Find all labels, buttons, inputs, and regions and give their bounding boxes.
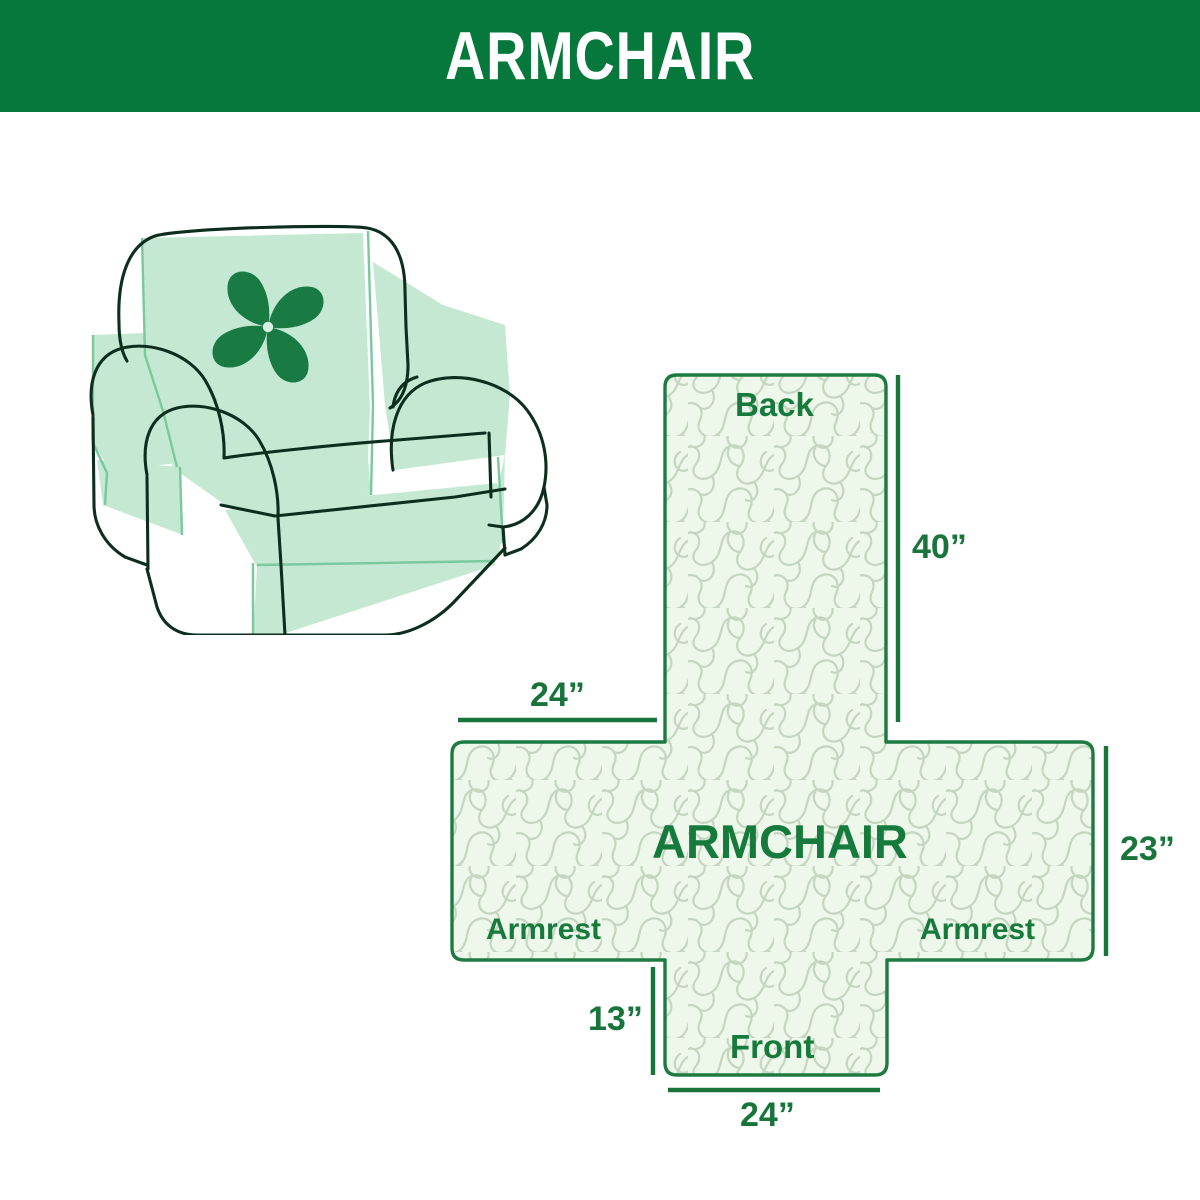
cover-shape <box>452 375 1093 1075</box>
cover-layout-diagram: 40” 24” 23” 13” 24” Back ARMCHAIR Armres… <box>430 350 1190 1120</box>
panel-label-front: Front <box>730 1030 814 1063</box>
panel-label-back: Back <box>735 388 814 421</box>
product-dimension-diagram: ARMCHAIR <box>0 0 1200 1200</box>
dim-label-back-width: 24” <box>530 678 585 712</box>
dim-label-seat-depth: 23” <box>1120 832 1175 866</box>
dim-label-back-height: 40” <box>912 530 967 564</box>
panel-label-center: ARMCHAIR <box>652 818 908 865</box>
page-title: ARMCHAIR <box>445 22 755 90</box>
dim-label-front-height: 13” <box>588 1002 643 1036</box>
dim-label-front-width: 24” <box>740 1098 795 1132</box>
panel-label-armrest-left: Armrest <box>486 915 601 945</box>
header-banner: ARMCHAIR <box>0 0 1200 112</box>
panel-label-armrest-right: Armrest <box>920 915 1035 945</box>
